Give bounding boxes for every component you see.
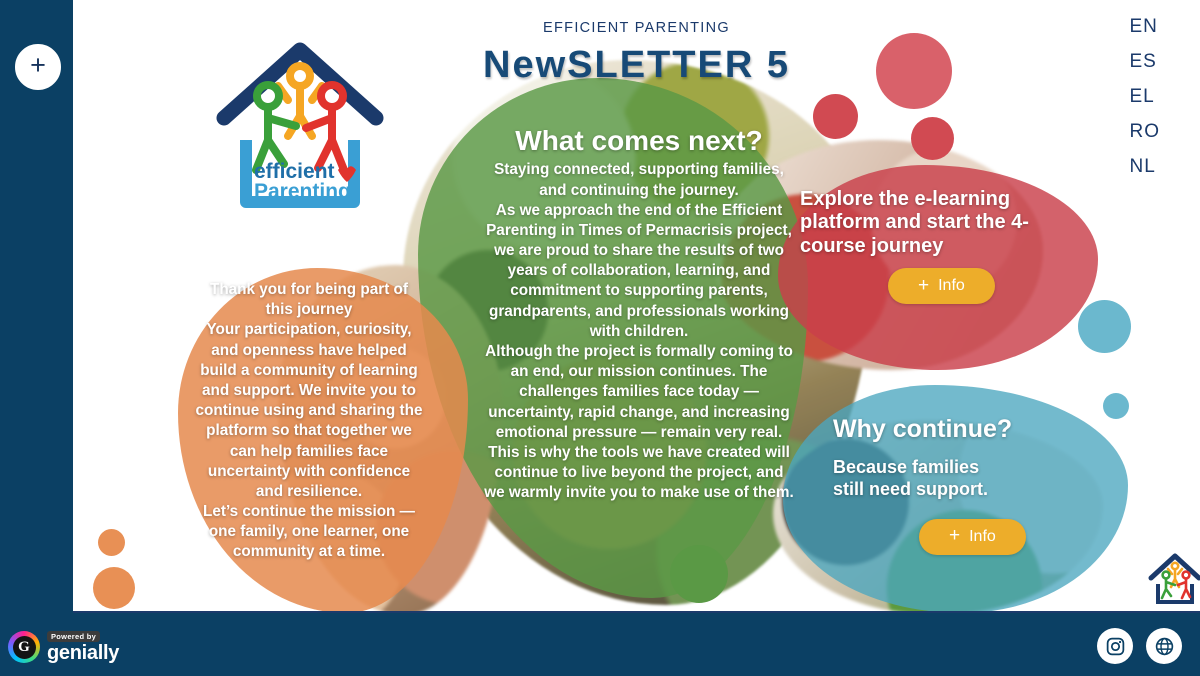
language-option-en[interactable]: EN [1130,16,1158,38]
green-panel-body: Staying connected, supporting families, … [483,160,795,503]
elearning-info-button-label: Info [938,277,965,295]
genially-name-label: genially [47,643,119,663]
why-continue-subheading: Because families still need support. [833,457,1095,501]
instagram-icon [1105,636,1126,657]
social-links [1097,628,1182,664]
plus-icon: + [949,526,960,545]
orange-panel-body: Thank you for being part of this journey… [195,280,423,563]
add-button[interactable]: + [14,43,62,91]
language-option-ro[interactable]: RO [1130,121,1161,143]
decor-dot-orange-large [93,567,135,609]
why-continue-heading: Why continue? [833,415,1095,444]
plus-icon: + [918,276,929,295]
elearning-info-button[interactable]: + Info [888,268,995,304]
genially-badge[interactable]: G Powered by genially [8,631,119,663]
language-option-nl[interactable]: NL [1130,156,1156,178]
language-option-es[interactable]: ES [1130,51,1157,73]
language-option-el[interactable]: EL [1130,86,1155,108]
why-continue-card: Why continue? Because families still nee… [833,415,1095,555]
decor-dot-red-tiny [911,117,954,160]
genially-logo-icon: G [8,631,40,663]
why-continue-info-button-label: Info [969,528,996,546]
why-continue-info-button[interactable]: + Info [919,519,1026,555]
website-globe-icon [1154,636,1175,657]
efficient-parenting-logo: efficient Parenting [210,30,390,210]
decor-dot-green [670,545,728,603]
green-panel-heading: What comes next? [483,125,795,156]
slide-canvas: efficient Parenting EFFICIENT PARENTING … [73,0,1200,613]
elearning-card: Explore the e-learning platform and star… [800,188,1035,304]
decor-dot-red-small [813,94,858,139]
svg-text:Parenting: Parenting [254,180,351,203]
efficient-parenting-logo-small: efficient Parenting [1145,548,1200,606]
language-switcher: EN ES EL RO NL [1130,16,1161,178]
genially-mark: G [13,636,36,659]
green-panel: What comes next? Staying connected, supp… [483,125,795,504]
plus-icon: + [30,52,46,79]
genially-powered-label: Powered by [47,631,100,642]
elearning-card-heading: Explore the e-learning platform and star… [800,188,1035,258]
website-link[interactable] [1146,628,1182,664]
decor-dot-teal-large [1078,300,1131,353]
presentation-stage: efficient Parenting EFFICIENT PARENTING … [0,0,1200,676]
decor-dot-orange-small [98,529,125,556]
instagram-link[interactable] [1097,628,1133,664]
decor-dot-teal-small [1103,393,1129,419]
